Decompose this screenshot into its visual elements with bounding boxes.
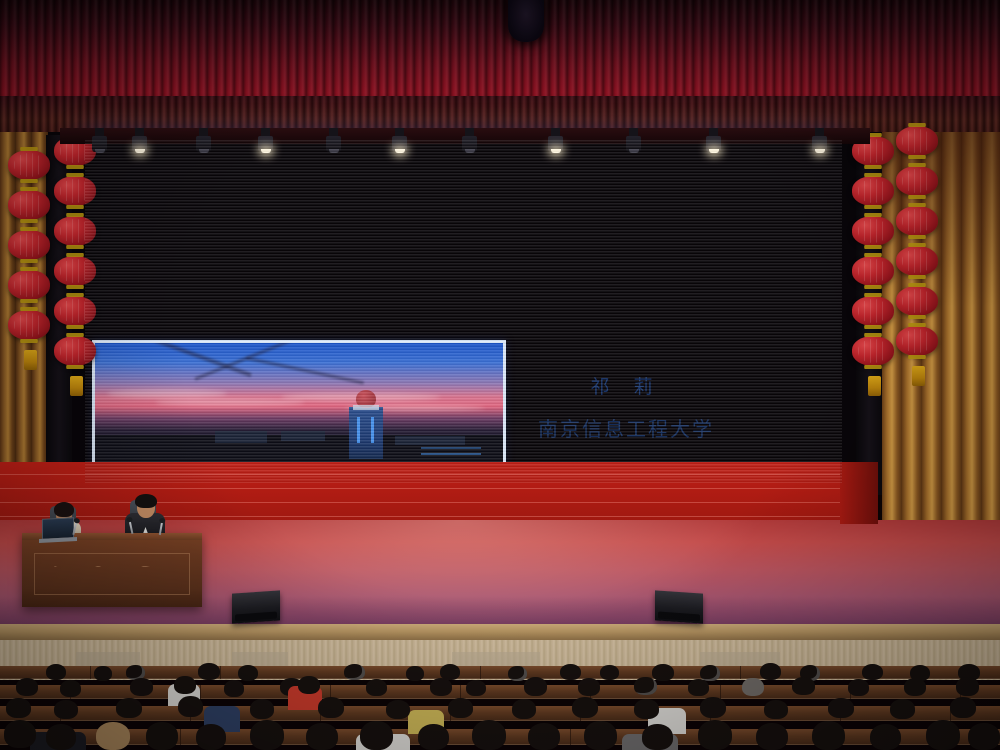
stage-lamp-icon xyxy=(462,128,477,158)
laptop-icon xyxy=(42,517,74,540)
stage-lamp-icon xyxy=(92,128,107,158)
lantern-icon xyxy=(852,296,894,326)
lantern-icon xyxy=(896,206,938,236)
stage-lamp-icon xyxy=(258,128,273,158)
lantern-icon xyxy=(54,296,96,326)
lantern-icon xyxy=(8,310,50,340)
lantern-icon xyxy=(852,176,894,206)
stage-edge-lip xyxy=(0,624,1000,640)
lantern-icon xyxy=(54,256,96,286)
speaker-credit-block: 祁 莉 南京信息工程大学 xyxy=(496,372,756,442)
lantern-icon xyxy=(896,246,938,276)
lantern-string-right-inner xyxy=(852,136,896,396)
lantern-icon xyxy=(852,216,894,246)
lantern-tassel xyxy=(70,376,83,396)
podium-table xyxy=(22,533,202,607)
speaker-name: 祁 莉 xyxy=(496,372,756,399)
stage-stairs-right-edge xyxy=(840,462,878,524)
lantern-tassel xyxy=(868,376,881,396)
stage-lamp-icon xyxy=(548,128,563,158)
stage-lamp-icon xyxy=(626,128,641,158)
lantern-string-left-inner xyxy=(54,136,98,396)
lantern-icon xyxy=(896,286,938,316)
lantern-tassel xyxy=(912,366,925,386)
lantern-string-right-outer xyxy=(896,126,940,386)
lantern-icon xyxy=(896,326,938,356)
lantern-icon xyxy=(54,336,96,366)
stage-monitor-left xyxy=(232,590,280,623)
lantern-icon xyxy=(8,190,50,220)
stage-lamp-icon xyxy=(326,128,341,158)
lantern-icon xyxy=(54,216,96,246)
lantern-icon xyxy=(8,270,50,300)
stage-lamp-icon xyxy=(392,128,407,158)
slide-photo-inset xyxy=(92,340,506,468)
lantern-icon xyxy=(8,230,50,260)
speaker-organization: 南京信息工程大学 xyxy=(496,413,756,442)
audience xyxy=(0,660,1000,750)
auditorium-lecture-photo: 南京信息工程大学 Nanjing University of Informati… xyxy=(0,0,1000,750)
lantern-tassel xyxy=(24,350,37,370)
lantern-icon xyxy=(8,150,50,180)
lantern-icon xyxy=(852,256,894,286)
lantern-string-left-outer xyxy=(8,150,52,370)
stage-lamp-icon xyxy=(706,128,721,158)
stage-lamp-icon xyxy=(132,128,147,158)
stage-monitor-right xyxy=(655,590,703,623)
lantern-icon xyxy=(896,166,938,196)
lantern-icon xyxy=(896,126,938,156)
ceiling-vent-icon xyxy=(508,0,544,42)
lantern-icon xyxy=(852,336,894,366)
stage-lamp-icon xyxy=(812,128,827,158)
photo-radar-tower xyxy=(349,407,383,459)
stage-lamp-icon xyxy=(196,128,211,158)
lantern-icon xyxy=(54,176,96,206)
